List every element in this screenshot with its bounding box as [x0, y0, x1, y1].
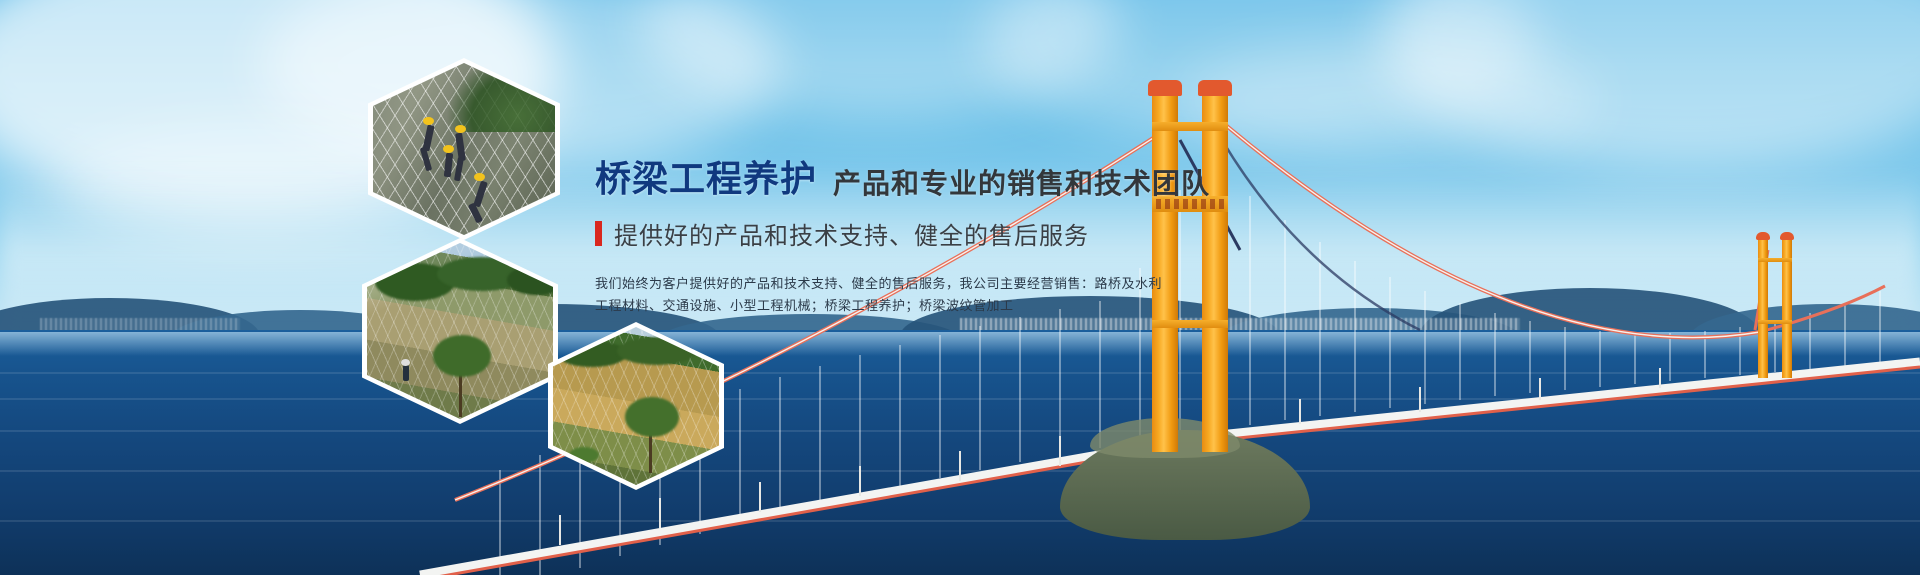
subheadline: 提供好的产品和技术支持、健全的售后服务: [614, 216, 1089, 251]
headline-secondary: 产品和专业的销售和技术团队: [833, 162, 1210, 202]
accent-bar: [595, 221, 602, 246]
description-line-1: 我们始终为客户提供好的产品和技术支持、健全的售后服务，我公司主要经营销售：路桥及…: [595, 273, 1295, 295]
banner-text-block: 桥梁工程养护 产品和专业的销售和技术团队 提供好的产品和技术支持、健全的售后服务…: [595, 150, 1295, 317]
tower-crossbeam: [1758, 258, 1792, 262]
marketing-banner: 桥梁工程养护 产品和专业的销售和技术团队 提供好的产品和技术支持、健全的售后服务…: [0, 0, 1920, 575]
tower-cap: [1780, 232, 1794, 240]
description-paragraph: 我们始终为客户提供好的产品和技术支持、健全的售后服务，我公司主要经营销售：路桥及…: [595, 273, 1295, 317]
photo-hex-earth-slope-greening: [548, 322, 724, 490]
description-line-2: 工程材料、交通设施、小型工程机械；桥梁工程养护；桥梁波纹管加工: [595, 295, 1295, 317]
tower-crossbeam: [1758, 320, 1792, 324]
tower-crossbeam: [1152, 122, 1228, 131]
headline-primary: 桥梁工程养护: [595, 150, 817, 202]
vegetation: [446, 63, 555, 132]
subheadline-row: 提供好的产品和技术支持、健全的售后服务: [595, 216, 1295, 251]
tower-cap: [1148, 80, 1182, 96]
tower-crossbeam: [1152, 320, 1228, 328]
photo-hex-rock-slope-mesh-installation: [368, 58, 560, 240]
tower-cap: [1756, 232, 1770, 240]
photo-hex-vegetated-slope-mesh: [362, 238, 558, 424]
tower-cap: [1198, 80, 1232, 96]
headline: 桥梁工程养护 产品和专业的销售和技术团队: [595, 150, 1295, 202]
